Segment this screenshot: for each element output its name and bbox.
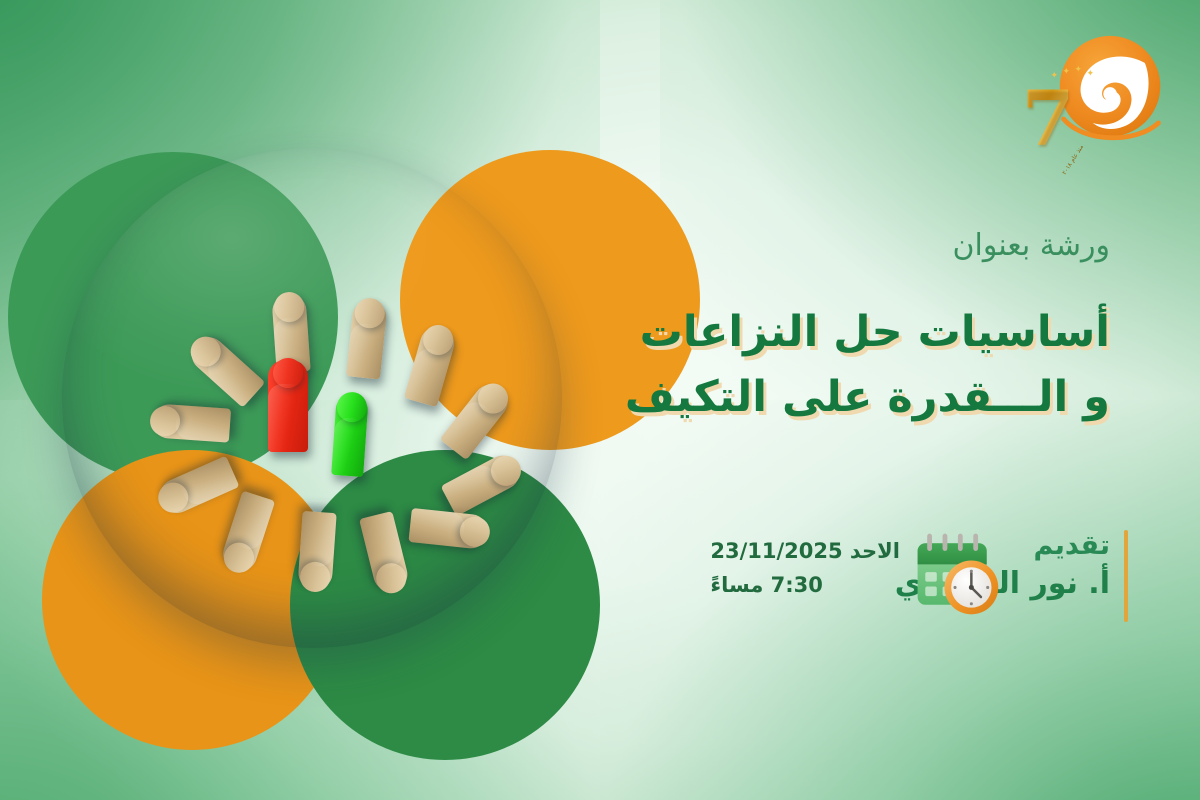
artwork-panel	[0, 0, 620, 800]
accent-divider	[1124, 530, 1128, 622]
wooden-figure	[297, 511, 336, 591]
red-figure	[268, 360, 308, 452]
wooden-figure	[151, 403, 231, 442]
event-time: 7:30 مساءً	[710, 568, 900, 602]
wooden-figure	[185, 330, 266, 407]
datetime-block: الاحد 23/11/2025 7:30 مساءً	[710, 534, 900, 602]
wooden-figure	[154, 456, 239, 519]
wooden-figure	[346, 298, 388, 379]
title-line-2: و الـــقدرة على التكيف	[640, 365, 1110, 430]
workshop-poster: 7 منذ عام ٢٠١٨ ✦ ✦ ✦ ✦ ورشة بعنوان أساسي…	[0, 0, 1200, 800]
wooden-figure	[404, 323, 458, 407]
page-title: أساسيات حل النزاعات و الـــقدرة على التك…	[640, 300, 1110, 431]
event-date: الاحد 23/11/2025	[710, 534, 900, 568]
wooden-figure	[441, 450, 526, 517]
content-panel: 7 منذ عام ٢٠١٨ ✦ ✦ ✦ ✦ ورشة بعنوان أساسي…	[640, 0, 1200, 800]
wooden-figure	[219, 491, 275, 576]
brand-logo[interactable]: 7 منذ عام ٢٠١٨ ✦ ✦ ✦ ✦	[1020, 24, 1170, 164]
sparkle-icon: ✦	[1074, 66, 1082, 75]
green-figure	[331, 393, 369, 477]
anniversary-numeral: 7	[1010, 80, 1086, 160]
title-line-1: أساسيات حل النزاعات	[640, 300, 1110, 365]
sparkle-icon: ✦	[1086, 70, 1094, 79]
calendar-clock-icon	[908, 526, 1004, 622]
wooden-figure	[359, 511, 411, 595]
wooden-figurines-circle-photo	[62, 148, 562, 648]
sparkle-icon: ✦	[1050, 72, 1058, 81]
wooden-figure	[408, 508, 489, 550]
sparkle-icon: ✦	[1062, 68, 1070, 77]
wooden-figure	[440, 378, 515, 460]
workshop-subtitle: ورشة بعنوان	[953, 228, 1110, 263]
